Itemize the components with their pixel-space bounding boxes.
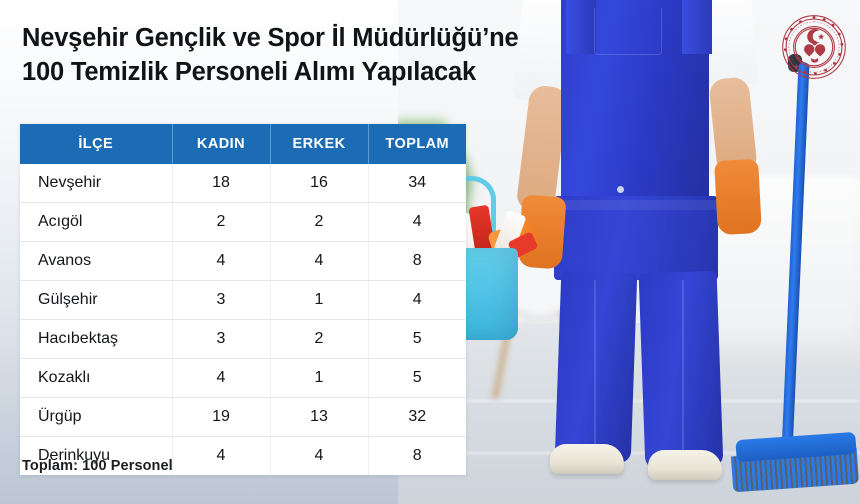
table-body: Nevşehir 18 16 34 Acıgöl 2 2 4 Avanos 4 … — [20, 164, 466, 475]
table-row: Ürgüp 19 13 32 — [20, 398, 466, 437]
total-personnel-note: Toplam: 100 Personel — [22, 458, 173, 474]
overall-strap-left — [566, 0, 596, 54]
bib-pocket — [594, 8, 662, 55]
headline-line-1: Nevşehir Gençlik ve Spor İl Müdürlüğü’ne — [22, 24, 518, 52]
ministry-seal-logo — [780, 10, 848, 84]
cell-male: 16 — [270, 164, 368, 203]
cell-female: 4 — [172, 437, 270, 476]
cell-female: 4 — [172, 359, 270, 398]
column-header-total: TOPLAM — [368, 124, 466, 164]
cell-male: 4 — [270, 437, 368, 476]
overall-belt — [554, 200, 718, 210]
trouser-seam — [594, 280, 596, 450]
cell-male: 13 — [270, 398, 368, 437]
cell-total: 4 — [368, 281, 466, 320]
cell-total: 8 — [368, 437, 466, 476]
overall-button — [617, 186, 624, 193]
poster-canvas: Nevşehir Gençlik ve Spor İl Müdürlüğü’ne… — [0, 0, 860, 504]
column-header-male: ERKEK — [270, 124, 368, 164]
table-row: Kozaklı 4 1 5 — [20, 359, 466, 398]
cell-male: 1 — [270, 281, 368, 320]
cell-district: Hacıbektaş — [20, 320, 172, 359]
cell-total: 4 — [368, 203, 466, 242]
personnel-table: İLÇE KADIN ERKEK TOPLAM Nevşehir 18 16 3… — [20, 124, 466, 475]
table-head: İLÇE KADIN ERKEK TOPLAM — [20, 124, 466, 164]
cell-male: 2 — [270, 320, 368, 359]
cell-male: 1 — [270, 359, 368, 398]
overall-strap-right — [682, 0, 712, 54]
cell-district: Kozaklı — [20, 359, 172, 398]
trouser-leg-right — [639, 271, 724, 470]
cell-total: 8 — [368, 242, 466, 281]
trouser-seam — [682, 280, 684, 452]
table-header-row: İLÇE KADIN ERKEK TOPLAM — [20, 124, 466, 164]
table-row: Avanos 4 4 8 — [20, 242, 466, 281]
cell-female: 3 — [172, 281, 270, 320]
cell-district: Ürgüp — [20, 398, 172, 437]
cell-district: Acıgöl — [20, 203, 172, 242]
cell-district: Avanos — [20, 242, 172, 281]
cell-district: Nevşehir — [20, 164, 172, 203]
table-row: Acıgöl 2 2 4 — [20, 203, 466, 242]
ministry-seal-icon — [780, 10, 848, 84]
table-row: Hacıbektaş 3 2 5 — [20, 320, 466, 359]
page-title: Nevşehir Gençlik ve Spor İl Müdürlüğü’ne… — [22, 22, 542, 89]
trouser-leg-left — [555, 271, 638, 464]
cell-female: 19 — [172, 398, 270, 437]
cell-total: 5 — [368, 359, 466, 398]
cell-district: Gülşehir — [20, 281, 172, 320]
cell-total: 32 — [368, 398, 466, 437]
cell-male: 2 — [270, 203, 368, 242]
cell-female: 4 — [172, 242, 270, 281]
cell-female: 2 — [172, 203, 270, 242]
headline-line-2: 100 Temizlik Personeli Alımı Yapılacak — [22, 56, 542, 90]
cell-male: 4 — [270, 242, 368, 281]
column-header-female: KADIN — [172, 124, 270, 164]
shoe-right — [648, 450, 722, 480]
cell-total: 5 — [368, 320, 466, 359]
column-header-district: İLÇE — [20, 124, 172, 164]
shoe-left — [550, 444, 624, 474]
rubber-glove-right — [714, 159, 762, 235]
table-row: Gülşehir 3 1 4 — [20, 281, 466, 320]
cell-female: 3 — [172, 320, 270, 359]
cell-total: 34 — [368, 164, 466, 203]
personnel-table-container: İLÇE KADIN ERKEK TOPLAM Nevşehir 18 16 3… — [20, 124, 466, 475]
table-row: Nevşehir 18 16 34 — [20, 164, 466, 203]
cell-female: 18 — [172, 164, 270, 203]
